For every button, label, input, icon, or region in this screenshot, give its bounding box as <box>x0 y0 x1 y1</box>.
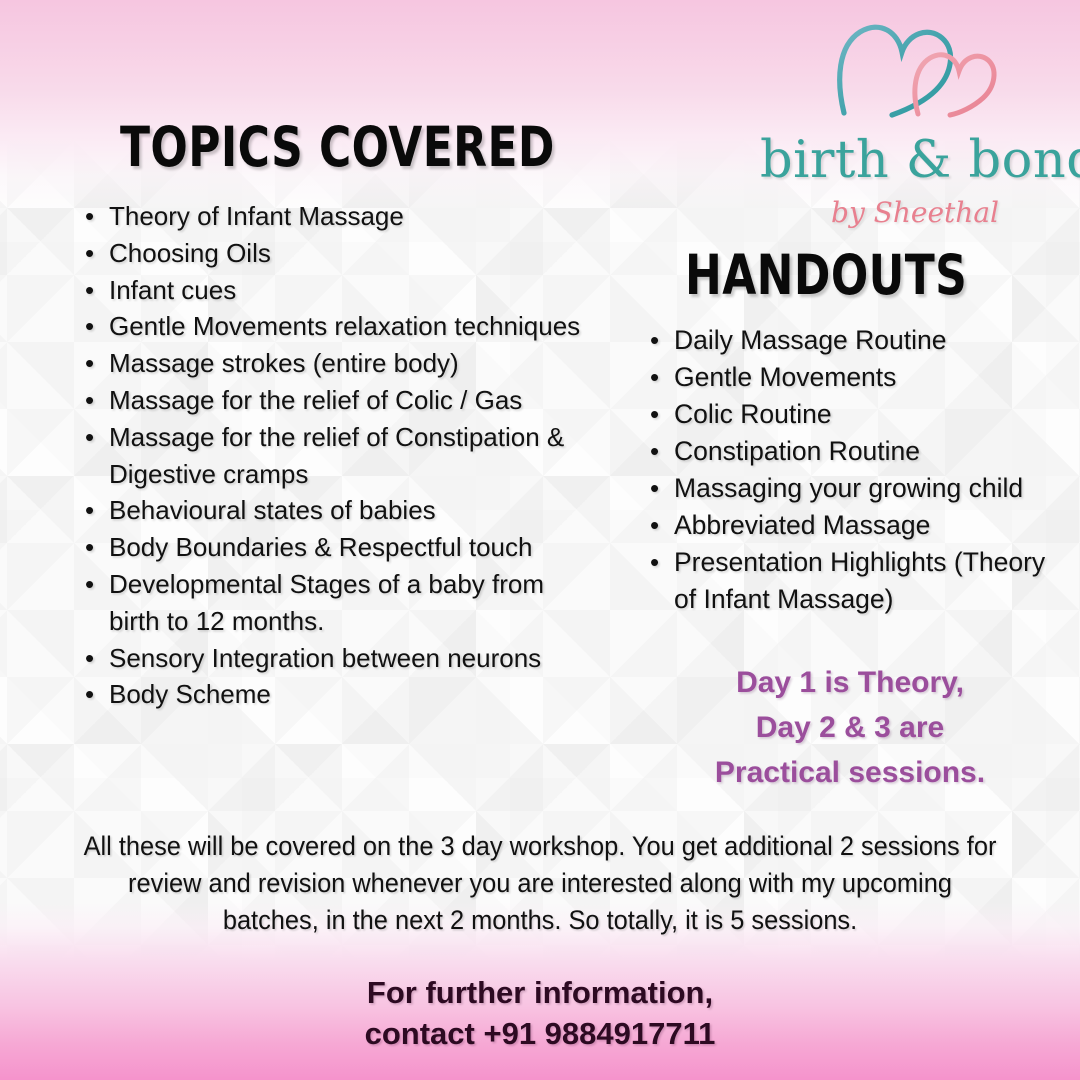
list-item: Choosing Oils <box>79 235 599 272</box>
day-schedule-note: Day 1 is Theory, Day 2 & 3 are Practical… <box>640 660 1060 795</box>
list-item: Colic Routine <box>644 396 1064 433</box>
list-item: Sensory Integration between neurons <box>79 640 599 677</box>
contact-footer: For further information, contact +91 988… <box>40 972 1040 1054</box>
two-hearts-icon <box>832 18 1008 130</box>
logo-byline: by Sheethal <box>760 196 1070 230</box>
list-item: Body Boundaries & Respectful touch <box>79 529 599 566</box>
poster-canvas: birth & bond by Sheethal TOPICS COVERED … <box>0 0 1080 1080</box>
list-item: Massage strokes (entire body) <box>79 345 599 382</box>
list-item: Presentation Highlights (Theory of Infan… <box>644 544 1064 618</box>
poster-content: birth & bond by Sheethal TOPICS COVERED … <box>0 0 1080 1080</box>
list-item: Daily Massage Routine <box>644 322 1064 359</box>
list-item: Massage for the relief of Constipation &… <box>79 419 599 493</box>
day-note-line: Day 1 is Theory, <box>640 660 1060 705</box>
contact-line: For further information, <box>40 972 1040 1013</box>
workshop-summary-text: All these will be covered on the 3 day w… <box>78 828 1003 939</box>
contact-line[interactable]: contact +91 9884917711 <box>40 1013 1040 1054</box>
list-item: Gentle Movements relaxation techniques <box>79 308 599 345</box>
list-item: Constipation Routine <box>644 433 1064 470</box>
handouts-list: Daily Massage Routine Gentle Movements C… <box>644 322 1064 618</box>
list-item: Developmental Stages of a baby from birt… <box>79 566 599 640</box>
logo-wordmark: birth & bond <box>760 130 1070 192</box>
list-item: Theory of Infant Massage <box>79 198 599 235</box>
list-item: Body Scheme <box>79 676 599 713</box>
handouts-heading: HANDOUTS <box>685 246 967 304</box>
day-note-line: Practical sessions. <box>640 750 1060 795</box>
topics-covered-heading: TOPICS COVERED <box>120 118 555 176</box>
topics-covered-list: Theory of Infant Massage Choosing Oils I… <box>79 198 599 713</box>
list-item: Gentle Movements <box>644 359 1064 396</box>
list-item: Behavioural states of babies <box>79 492 599 529</box>
brand-logo: birth & bond by Sheethal <box>760 18 1070 224</box>
list-item: Massage for the relief of Colic / Gas <box>79 382 599 419</box>
list-item: Abbreviated Massage <box>644 507 1064 544</box>
day-note-line: Day 2 & 3 are <box>640 705 1060 750</box>
list-item: Massaging your growing child <box>644 470 1064 507</box>
list-item: Infant cues <box>79 272 599 309</box>
